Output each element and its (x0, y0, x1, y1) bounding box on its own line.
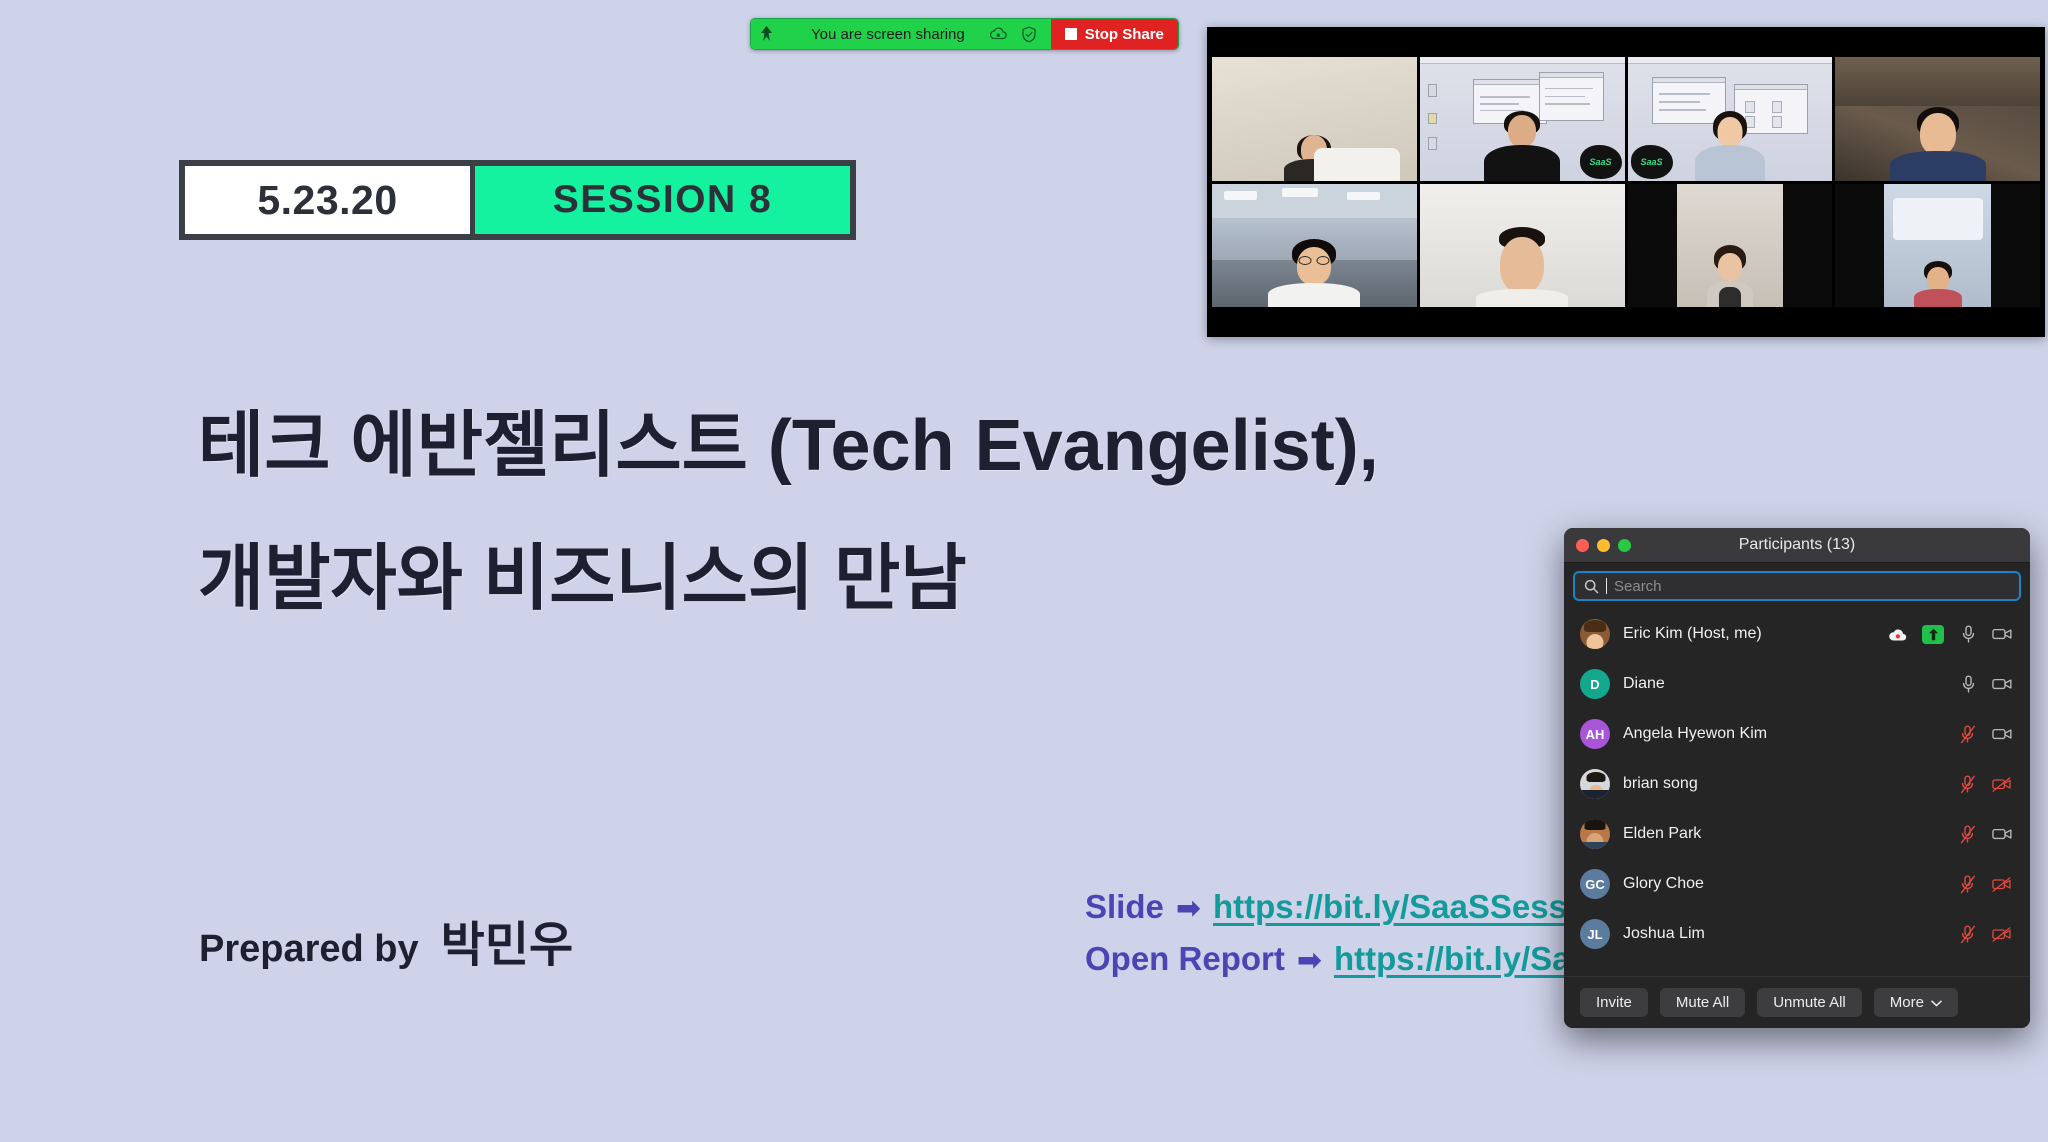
participant-status-icons (1958, 674, 2012, 694)
video-tile-6[interactable] (1420, 184, 1625, 308)
video-tile-2[interactable]: SaaS (1420, 57, 1625, 181)
session-badge: 5.23.20 SESSION 8 (179, 160, 856, 240)
session-number: SESSION 8 (475, 166, 850, 234)
video-tile-1[interactable] (1212, 57, 1417, 181)
microphone-muted-icon[interactable] (1958, 874, 1978, 894)
video-tile-3[interactable]: SaaS (1628, 57, 1833, 181)
participant-status-icons (1958, 774, 2012, 794)
camera-icon[interactable] (1992, 724, 2012, 744)
presenter-name: 박민우 (441, 905, 573, 975)
avatar (1580, 769, 1610, 799)
participant-status-icons (1958, 724, 2012, 744)
video-feed (1628, 184, 1833, 308)
video-filmstrip[interactable]: SaaS SaaS (1207, 27, 2045, 337)
participant-status-icons (1958, 874, 2012, 894)
sharing-status-area: You are screen sharing (751, 19, 1051, 49)
avatar (1580, 819, 1610, 849)
avatar: GC (1580, 869, 1610, 899)
search-area: Search (1564, 563, 2030, 607)
stop-share-button[interactable]: Stop Share (1051, 19, 1178, 49)
participant-row[interactable]: AH Angela Hyewon Kim (1564, 709, 2030, 759)
microphone-muted-icon[interactable] (1958, 824, 1978, 844)
participant-row[interactable]: Eric Kim (Host, me) (1564, 609, 2030, 659)
prepared-by-label: Prepared by (199, 928, 419, 971)
microphone-icon[interactable] (1958, 674, 1978, 694)
camera-icon[interactable] (1992, 674, 2012, 694)
video-feed (1835, 57, 2040, 181)
screen-sharing-banner: You are screen sharing Stop Share (750, 18, 1179, 50)
participants-window[interactable]: Participants (13) Search Eric Kim (Host,… (1564, 528, 2030, 1028)
avatar (1580, 619, 1610, 649)
camera-muted-icon[interactable] (1992, 874, 2012, 894)
microphone-muted-icon[interactable] (1958, 924, 1978, 944)
cloud-recording-icon[interactable] (989, 24, 1009, 44)
microphone-muted-icon[interactable] (1958, 774, 1978, 794)
prepared-by: Prepared by 박민우 (199, 905, 573, 975)
participant-row[interactable]: JL Joshua Lim (1564, 909, 2030, 959)
search-placeholder: Search (1614, 578, 1662, 595)
avatar: JL (1580, 919, 1610, 949)
video-tile-8[interactable] (1835, 184, 2040, 308)
avatar: D (1580, 669, 1610, 699)
participant-name: Diane (1623, 675, 1945, 693)
participant-name: brian song (1623, 775, 1945, 793)
report-link-label: Open Report (1085, 940, 1285, 978)
maximize-icon[interactable] (1618, 539, 1631, 552)
sharing-status-text: You are screen sharing (785, 26, 979, 43)
participant-name: Eric Kim (Host, me) (1623, 625, 1875, 643)
session-date: 5.23.20 (185, 166, 475, 234)
more-button[interactable]: More (1874, 988, 1958, 1017)
chevron-down-icon (1931, 994, 1942, 1011)
video-tile-7[interactable] (1628, 184, 1833, 308)
arrow-right-icon: ➡ (1176, 891, 1201, 926)
saas-logo: SaaS (1631, 145, 1673, 179)
stop-square-icon (1065, 28, 1077, 40)
search-input[interactable]: Search (1573, 571, 2021, 601)
saas-logo: SaaS (1580, 145, 1622, 179)
slide-link-label: Slide (1085, 888, 1164, 926)
video-feed (1420, 184, 1625, 308)
screen-share-badge-icon[interactable] (1922, 625, 1944, 644)
camera-muted-icon[interactable] (1992, 774, 2012, 794)
minimize-icon[interactable] (1597, 539, 1610, 552)
participant-name: Joshua Lim (1623, 925, 1945, 943)
avatar: AH (1580, 719, 1610, 749)
participant-name: Elden Park (1623, 825, 1945, 843)
unmute-all-button[interactable]: Unmute All (1757, 988, 1862, 1017)
participant-name: Glory Choe (1623, 875, 1945, 893)
video-feed: SaaS (1628, 57, 1833, 181)
participants-list[interactable]: Eric Kim (Host, me) (1564, 607, 2030, 976)
search-icon (1584, 579, 1599, 594)
headline-line-1: 테크 에반젤리스트 (Tech Evangelist), (198, 380, 1758, 513)
participant-row[interactable]: brian song (1564, 759, 2030, 809)
participant-row[interactable]: GC Glory Choe (1564, 859, 2030, 909)
headline-line-2: 개발자와 비즈니스의 만남 (198, 513, 1758, 646)
text-caret (1606, 578, 1607, 594)
microphone-muted-icon[interactable] (1958, 724, 1978, 744)
arrow-right-icon: ➡ (1297, 943, 1322, 978)
video-feed: SaaS (1420, 57, 1625, 181)
participant-row[interactable]: D Diane (1564, 659, 2030, 709)
stop-share-label: Stop Share (1085, 26, 1164, 43)
participant-status-icons (1958, 924, 2012, 944)
mute-all-button[interactable]: Mute All (1660, 988, 1745, 1017)
camera-muted-icon[interactable] (1992, 924, 2012, 944)
video-feed (1835, 184, 2040, 308)
participants-footer: Invite Mute All Unmute All More (1564, 976, 2030, 1028)
participant-name: Angela Hyewon Kim (1623, 725, 1945, 743)
share-cursor-icon (757, 24, 775, 44)
microphone-icon[interactable] (1958, 624, 1978, 644)
video-feed (1212, 184, 1417, 308)
slide-headline: 테크 에반젤리스트 (Tech Evangelist), 개발자와 비즈니스의 … (198, 380, 1758, 646)
participant-status-icons (1958, 824, 2012, 844)
participant-row[interactable]: Elden Park (1564, 809, 2030, 859)
video-tile-4[interactable] (1835, 57, 2040, 181)
invite-button[interactable]: Invite (1580, 988, 1648, 1017)
camera-icon[interactable] (1992, 824, 2012, 844)
window-titlebar[interactable]: Participants (13) (1564, 528, 2030, 563)
shield-check-icon[interactable] (1019, 24, 1039, 44)
traffic-lights (1564, 539, 1631, 552)
cloud-recording-icon[interactable] (1888, 624, 1908, 644)
participant-status-icons (1888, 624, 2012, 644)
close-icon[interactable] (1576, 539, 1589, 552)
video-tile-5-active-speaker[interactable] (1212, 184, 1417, 308)
more-label: More (1890, 994, 1924, 1011)
video-feed (1212, 57, 1417, 181)
camera-icon[interactable] (1992, 624, 2012, 644)
window-title: Participants (13) (1564, 536, 2030, 554)
